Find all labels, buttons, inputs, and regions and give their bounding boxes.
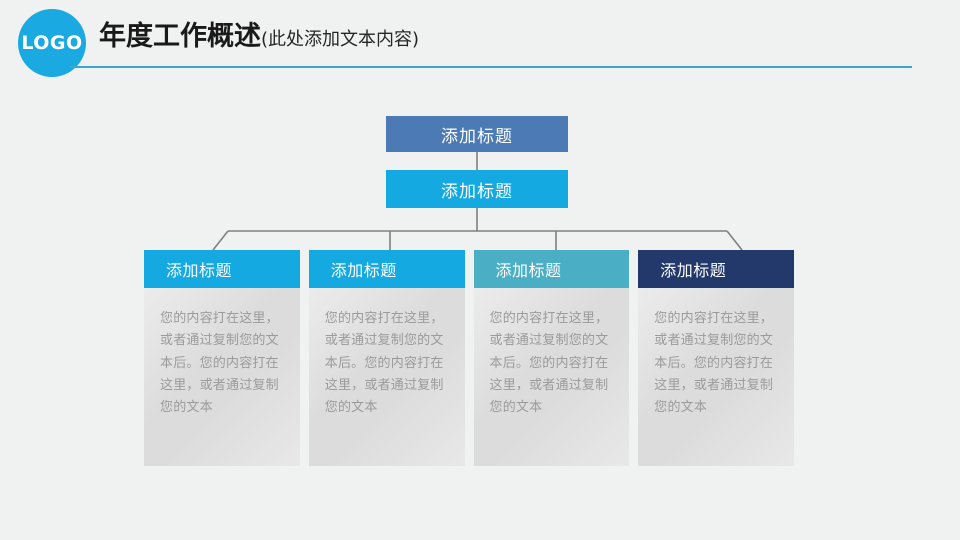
- diagram-top-box-1-label: 添加标题: [441, 122, 513, 147]
- diagram-card-4-header[interactable]: 添加标题: [638, 250, 794, 288]
- page-title-main: 年度工作概述: [99, 23, 261, 50]
- diagram-card-1-body: 您的内容打在这里，或者通过复制您的文本后。您的内容打在这里，或者通过复制您的文本: [144, 288, 300, 466]
- diagram-card-4-body: 您的内容打在这里，或者通过复制您的文本后。您的内容打在这里，或者通过复制您的文本: [638, 288, 794, 466]
- header-divider: [70, 66, 912, 68]
- diagram-card-1-title: 添加标题: [166, 257, 232, 281]
- logo-label: LOGO: [21, 32, 82, 54]
- diagram-card-3-body: 您的内容打在这里，或者通过复制您的文本后。您的内容打在这里，或者通过复制您的文本: [474, 288, 630, 466]
- diagram-cards-row: 添加标题 您的内容打在这里，或者通过复制您的文本后。您的内容打在这里，或者通过复…: [144, 250, 794, 466]
- slide-header: LOGO 年度工作概述 (此处添加文本内容): [0, 0, 960, 80]
- diagram-card-3-title: 添加标题: [496, 257, 562, 281]
- diagram-card-3-header[interactable]: 添加标题: [474, 250, 630, 288]
- page-title: 年度工作概述 (此处添加文本内容): [99, 23, 419, 50]
- diagram-card-1-header[interactable]: 添加标题: [144, 250, 300, 288]
- diagram-card-2-header[interactable]: 添加标题: [309, 250, 465, 288]
- diagram-card-3[interactable]: 添加标题 您的内容打在这里，或者通过复制您的文本后。您的内容打在这里，或者通过复…: [474, 250, 630, 466]
- diagram-card-1[interactable]: 添加标题 您的内容打在这里，或者通过复制您的文本后。您的内容打在这里，或者通过复…: [144, 250, 300, 466]
- connector-leg-left-diagonal: [213, 231, 228, 250]
- diagram-card-4-title: 添加标题: [660, 257, 726, 281]
- connector-leg-right-diagonal: [727, 231, 742, 250]
- diagram-top-box-1[interactable]: 添加标题: [386, 116, 568, 152]
- diagram-top-box-2-label: 添加标题: [441, 177, 513, 202]
- diagram-card-2-body: 您的内容打在这里，或者通过复制您的文本后。您的内容打在这里，或者通过复制您的文本: [309, 288, 465, 466]
- slide-canvas: LOGO 年度工作概述 (此处添加文本内容) 添加标题 添加标题 添加: [0, 0, 960, 540]
- diagram-top-box-2[interactable]: 添加标题: [386, 170, 568, 208]
- diagram-card-2-title: 添加标题: [331, 257, 397, 281]
- diagram-card-4[interactable]: 添加标题 您的内容打在这里，或者通过复制您的文本后。您的内容打在这里，或者通过复…: [638, 250, 794, 466]
- diagram-card-2[interactable]: 添加标题 您的内容打在这里，或者通过复制您的文本后。您的内容打在这里，或者通过复…: [309, 250, 465, 466]
- page-title-sub: (此处添加文本内容): [261, 31, 419, 49]
